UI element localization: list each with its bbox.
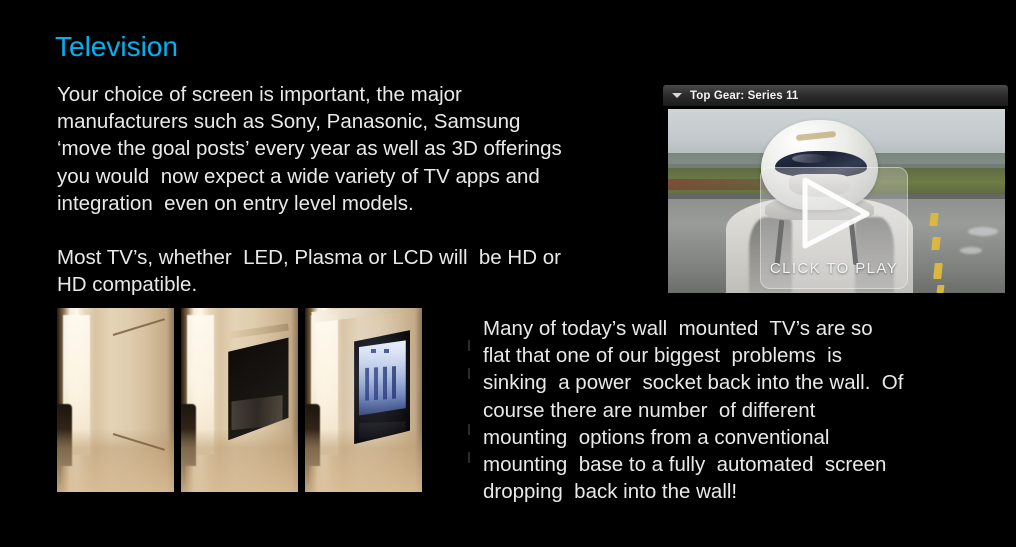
- floor: [57, 429, 174, 492]
- paragraph-tv-formats: Most TV’s, whether LED, Plasma or LCD wi…: [57, 244, 561, 298]
- lane-marking: [933, 263, 943, 279]
- video-player-header[interactable]: Top Gear: Series 11: [663, 85, 1008, 106]
- lane-marking: [937, 285, 945, 293]
- video-title: Top Gear: Series 11: [690, 90, 798, 102]
- puddle: [960, 247, 982, 254]
- puddle: [968, 227, 998, 236]
- photo-tv-revealed: [305, 308, 422, 492]
- tv-screen-icons: [371, 349, 391, 353]
- video-player[interactable]: Top Gear: Series 11: [663, 85, 1008, 294]
- play-triangle-icon[interactable]: [791, 174, 875, 252]
- tv-screen: [359, 340, 406, 415]
- visor-reflection: [792, 154, 829, 163]
- page-title: Television: [55, 30, 178, 64]
- paragraph-wall-mounting: Many of today’s wall mounted TV’s are so…: [483, 315, 903, 505]
- photo-strip: [57, 308, 423, 492]
- residual-tick-marks: [468, 340, 472, 490]
- chevron-down-icon[interactable]: [672, 93, 682, 98]
- slide-canvas: Television Your choice of screen is impo…: [0, 0, 1016, 547]
- play-overlay-panel[interactable]: CLICK TO PLAY: [760, 167, 908, 289]
- play-caption: CLICK TO PLAY: [761, 260, 907, 277]
- floor: [181, 429, 298, 492]
- lane-marking: [931, 237, 940, 250]
- lane-marking: [929, 213, 938, 226]
- paragraph-screen-choice: Your choice of screen is important, the …: [57, 81, 562, 217]
- tv-screen-content: [365, 366, 398, 401]
- photo-wall-panel-closed: [57, 308, 174, 492]
- helmet-vent: [796, 131, 836, 141]
- video-thumbnail[interactable]: CLICK TO PLAY: [668, 109, 1005, 293]
- photo-wall-panel-opening: [181, 308, 298, 492]
- wall-mounted-tv: [354, 330, 410, 444]
